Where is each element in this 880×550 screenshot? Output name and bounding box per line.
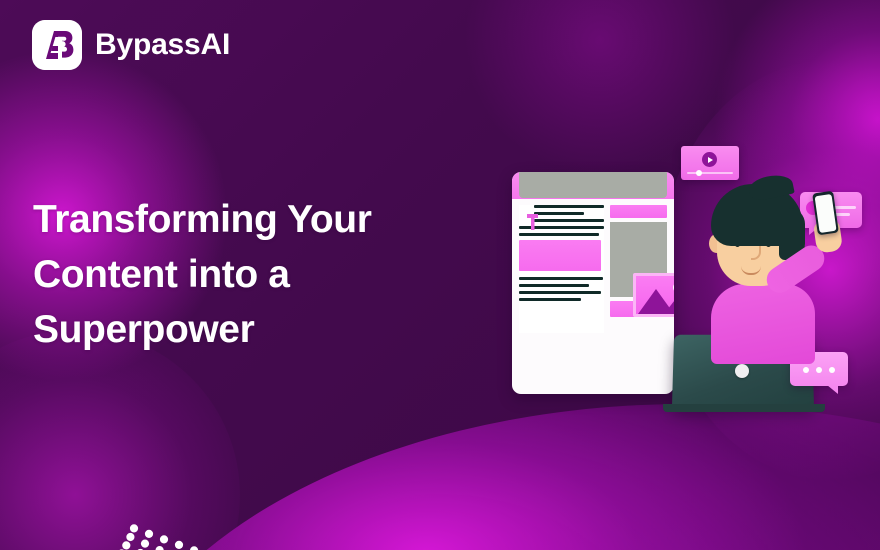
page-title: Transforming Your Content into a Superpo… [33, 192, 503, 357]
mountain-icon [636, 276, 674, 314]
sidebar-pink-top [610, 205, 667, 218]
headline-line-1: Transforming Your [33, 192, 503, 247]
blog-mockup-card: BLOG [512, 172, 674, 394]
content-creator-illustration: BLOG [495, 130, 880, 420]
blog-footer [519, 172, 667, 198]
brand-logo[interactable]: BypassAI [32, 20, 230, 70]
laptop-base [663, 404, 825, 412]
smartphone-device [812, 191, 839, 236]
play-button-icon[interactable] [702, 152, 717, 167]
mouth [741, 266, 761, 275]
video-scrubber[interactable] [687, 172, 733, 174]
footer-gray-bar [519, 172, 667, 198]
brand-name: BypassAI [95, 28, 230, 62]
headline-line-2: Content into a [33, 247, 503, 302]
dropcap-letter-t [527, 214, 538, 230]
torso-shirt [711, 284, 815, 364]
blog-body [512, 199, 674, 205]
bypassai-monogram-icon [32, 20, 82, 70]
blog-article-column [519, 205, 604, 333]
dot-arc-pattern [0, 405, 220, 550]
blog-highlight-block [519, 240, 601, 271]
headline-line-3: Superpower [33, 302, 503, 357]
video-player-card[interactable] [681, 146, 739, 180]
person-with-phone [691, 178, 851, 378]
hero-banner: BypassAI Transforming Your Content into … [0, 0, 880, 550]
image-placeholder-icon [633, 273, 674, 317]
